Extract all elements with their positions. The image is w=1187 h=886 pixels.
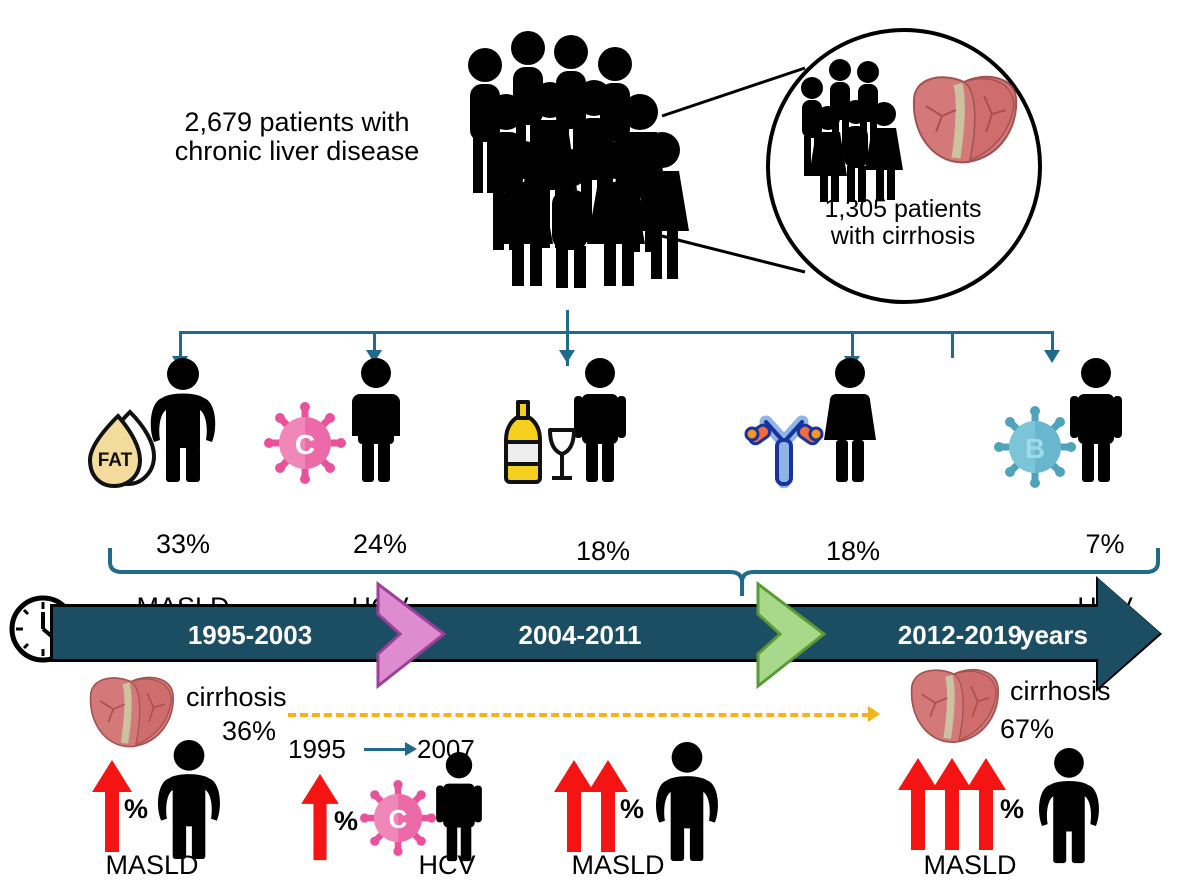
liver-icon	[896, 664, 1012, 752]
timeline-arrowhead	[1098, 578, 1160, 688]
timeline-chevron-pink	[370, 580, 456, 690]
trend-3-pct: %	[620, 794, 644, 825]
hcv-year-arrowhead	[405, 742, 417, 756]
timeline-period-2: 2004-2011	[455, 620, 705, 651]
timeline-period-1: 1995-2003	[120, 620, 380, 651]
cohort-label: 2,679 patients with chronic liver diseas…	[152, 108, 442, 166]
trend-4-pct: %	[1000, 794, 1024, 825]
trend-4-label: MASLD	[890, 850, 1050, 881]
svg-text:B: B	[1025, 433, 1045, 464]
trend-2-pct: %	[334, 806, 358, 837]
obese-person-icon	[650, 742, 724, 862]
cirrhosis-right-label: cirrhosis	[1010, 676, 1111, 707]
hcv-year-arrow	[364, 748, 408, 751]
svg-text:C: C	[389, 806, 408, 834]
cirrhosis-trend-arrow	[288, 713, 870, 717]
lower-brace	[104, 548, 1164, 608]
cirrhosis-left-pct: 36%	[222, 716, 276, 747]
bracket-drop-5	[951, 331, 954, 358]
antibody-icon	[744, 408, 824, 488]
timeline-axis-label: years	[1020, 620, 1088, 651]
cirrhosis-trend-arrowhead	[868, 706, 880, 722]
trend-3-label: MASLD	[538, 850, 698, 881]
person-icon	[430, 752, 488, 862]
person-icon	[346, 358, 406, 483]
bracket-drop-5b	[1051, 331, 1054, 358]
virus-c-icon: C	[264, 402, 346, 484]
cirrhosis-right-pct: 67%	[1000, 714, 1054, 745]
inset-label: 1,305 patients with cirrhosis	[798, 196, 1008, 250]
obese-person-icon	[152, 740, 226, 860]
bracket-horizontal-right	[951, 331, 1051, 334]
svg-text:FAT: FAT	[98, 450, 133, 471]
bracket-horizontal	[179, 331, 954, 334]
trend-2-label: HCV	[382, 850, 512, 881]
liver-icon	[906, 70, 1022, 174]
obese-person-icon	[1032, 748, 1106, 864]
virus-c-icon: C	[360, 780, 436, 856]
virus-b-icon: B	[994, 406, 1076, 488]
female-person-icon	[816, 358, 884, 483]
hcv-year-from: 1995	[288, 734, 346, 765]
timeline-chevron-green	[750, 580, 836, 690]
fat-drop-icon: FAT	[88, 406, 160, 490]
trend-1-label: MASLD	[72, 850, 232, 881]
svg-text:C: C	[295, 429, 315, 460]
bottle-glass-icon	[494, 400, 580, 486]
cirrhosis-left-label: cirrhosis	[186, 682, 287, 713]
trend-1-pct: %	[124, 794, 148, 825]
